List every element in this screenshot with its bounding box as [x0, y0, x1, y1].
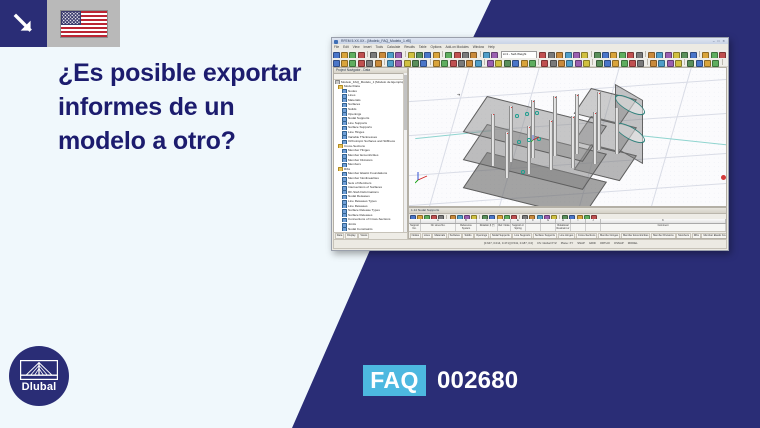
toolbar-separator	[367, 51, 368, 57]
arrow-down-right-icon	[11, 11, 36, 36]
toolbar-icon[interactable]	[575, 60, 582, 67]
blue-icon	[342, 154, 347, 158]
toolbar-separator	[592, 59, 593, 65]
table-column-header: Support No.	[409, 224, 421, 232]
table-column-header	[526, 224, 541, 232]
toolbar-icon[interactable]	[504, 60, 511, 67]
toolbar-icon[interactable]	[412, 60, 419, 67]
toolbar-icon[interactable]	[521, 60, 528, 67]
toolbar-icon[interactable]	[458, 60, 465, 67]
toolbar-icon[interactable]	[466, 60, 473, 67]
toolbar-icon[interactable]	[650, 60, 657, 67]
table-grid[interactable]: ABCDEFGHIJK Support No.On Lines No.Refer…	[409, 219, 726, 232]
toolbar-icon[interactable]	[629, 60, 636, 67]
xyz-axis-icon	[531, 134, 541, 144]
blue-icon	[342, 200, 347, 204]
table-column-letter[interactable]: H	[556, 219, 571, 223]
menu-item-window[interactable]: Window	[473, 45, 484, 49]
toolbar-icon[interactable]	[441, 60, 448, 67]
global-axis-icon	[415, 170, 429, 184]
title-line-1: ¿Es posible exportar	[58, 56, 320, 90]
table-column-letter[interactable]: A	[421, 219, 456, 223]
table-tab[interactable]: Line Hinges	[558, 233, 576, 238]
toolbar-icon[interactable]	[433, 60, 440, 67]
table-column-header: Reference System	[456, 224, 477, 232]
table-column-header	[571, 224, 586, 232]
table-column-header	[586, 224, 601, 232]
table-tab[interactable]: Member Eccentricities	[621, 233, 651, 238]
navigator-tree-item-label: Action Combinations	[348, 249, 376, 251]
menu-item-insert[interactable]: Insert	[364, 45, 372, 49]
table-column-header: Rotational Restraint or Spring [MNm/rad]	[556, 224, 571, 232]
menu-item-table[interactable]: Table	[419, 45, 427, 49]
table-column-header: Comment	[601, 224, 726, 232]
toolbar-icon[interactable]	[529, 60, 536, 67]
title-line-3: modelo a otro?	[58, 124, 320, 158]
table-column-header: Rotation β [°]	[477, 224, 498, 232]
toolbar-icon[interactable]	[658, 60, 665, 67]
toolbar-separator	[647, 59, 648, 65]
toolbar-icon[interactable]	[667, 60, 674, 67]
table-column-letter[interactable]: G	[541, 219, 556, 223]
toolbar-separator	[538, 59, 539, 65]
toolbar-icon[interactable]	[333, 60, 340, 67]
toolbar-icon[interactable]	[341, 60, 348, 67]
viewport-marker-icon	[721, 175, 726, 180]
model-viewport[interactable]: ➔	[408, 67, 727, 207]
toolbar-icon[interactable]	[387, 60, 394, 67]
toolbar-separator	[384, 59, 385, 65]
data-table-panel[interactable]: 1.14 Nodal Supports ABCDEFGHIJK Support …	[408, 207, 727, 239]
table-title: 1.14 Nodal Supports	[411, 208, 439, 212]
toolbar-icon[interactable]	[583, 60, 590, 67]
table-tab[interactable]: Line Supports	[512, 233, 532, 238]
toolbar-icon[interactable]	[712, 60, 719, 67]
table-tab[interactable]: Ribs	[692, 233, 701, 238]
table-tab[interactable]: Member Hinges	[598, 233, 620, 238]
navigator-tree-item[interactable]: Action Combinations	[334, 249, 407, 251]
blue-icon	[342, 250, 347, 251]
toolbar-icon[interactable]	[550, 60, 557, 67]
table-tab-strip[interactable]: NodesLinesMaterialsSurfacesSolidsOpening…	[409, 231, 726, 238]
table-tab[interactable]: Cross-Sections	[576, 233, 598, 238]
toolbar-separator	[699, 51, 700, 57]
project-navigator[interactable]: Project Navigator - Data Modelo_FAQ_Mode…	[333, 67, 408, 233]
blue-icon	[342, 177, 347, 181]
menu-item-calculate[interactable]: Calculate	[387, 45, 400, 49]
toolbar-icon[interactable]	[566, 60, 573, 67]
mouse-cursor-icon: ➔	[457, 92, 460, 97]
toolbar-icon[interactable]	[637, 60, 644, 67]
toolbar-icon[interactable]	[420, 60, 427, 67]
toolbar-secondary[interactable]	[332, 58, 728, 67]
status-segment[interactable]: GRID	[589, 241, 596, 245]
toolbar-icon[interactable]	[687, 60, 694, 67]
status-bar: [0.647, 0.014, 0.471] [0.541, 0.187, 0.0…	[333, 239, 727, 249]
toolbar-separator	[591, 51, 592, 57]
load-case-select-value: LC1 - Self-Weight	[503, 52, 527, 56]
toolbar-icon[interactable]	[541, 60, 548, 67]
table-column-letter[interactable]: F	[526, 219, 541, 223]
table-column-letter[interactable]: K	[601, 219, 726, 223]
table-tab[interactable]: Nodal Supports	[490, 233, 512, 238]
table-tab[interactable]: Member Elastic Foundations	[701, 233, 726, 238]
toolbar-separator	[645, 51, 646, 57]
status-segment[interactable]: Plane: XY	[561, 241, 573, 245]
toolbar-icon[interactable]	[512, 60, 519, 67]
table-column-letter[interactable]: J	[586, 219, 601, 223]
table-column-header: On Lines No.	[421, 224, 456, 232]
status-segment[interactable]: SNAP	[577, 241, 585, 245]
table-tab[interactable]: Surface Supports	[533, 233, 557, 238]
menu-item-view[interactable]: View	[353, 45, 360, 49]
faq-card: ¿Es posible exportar informes de un mode…	[0, 0, 760, 428]
status-segment[interactable]: OSNAP	[614, 241, 624, 245]
table-tab[interactable]: Nodes	[410, 233, 422, 238]
menu-item-add-on-modules[interactable]: Add-on Modules	[446, 45, 469, 49]
table-tab[interactable]: Members	[676, 233, 691, 238]
table-column-header: Support or Spring [MN/m²]	[511, 224, 526, 232]
table-column-header: Ref. Node	[498, 224, 511, 232]
dlubal-bridge-icon	[20, 360, 58, 380]
table-tab[interactable]: Member Divisions	[651, 233, 676, 238]
us-flag-icon	[60, 10, 108, 38]
toolbar-separator	[430, 59, 431, 65]
toolbar-icon[interactable]	[366, 60, 373, 67]
navigator-scrollbar[interactable]	[403, 73, 408, 232]
status-coordinates: [0.647, 0.014, 0.471] [0.541, 0.187, 0.0…	[484, 241, 533, 245]
dlubal-wordmark: Dlubal	[9, 381, 69, 393]
table-corner-cell	[409, 219, 421, 223]
table-tab[interactable]: Lines	[422, 233, 432, 238]
toolbar-separator	[484, 59, 485, 65]
table-column-letter[interactable]: I	[571, 219, 586, 223]
title-line-2: informes de un	[58, 90, 320, 124]
toolbar-separator	[442, 51, 443, 57]
toolbar-icon[interactable]	[612, 60, 619, 67]
window-controls[interactable]: – □ ✕	[713, 39, 726, 43]
app-icon	[334, 40, 338, 44]
toolbar-icon[interactable]	[349, 60, 356, 67]
toolbar-separator	[405, 51, 406, 57]
table-tab[interactable]: Openings	[474, 233, 489, 238]
status-segment[interactable]: ORTHO	[600, 241, 610, 245]
window-title: RFEM 5.XX.XX - [Modelo_FAQ_Modelo_1.rf5]	[341, 39, 411, 43]
toolbar-icon[interactable]	[358, 60, 365, 67]
table-column-header	[541, 224, 556, 232]
toolbar-icon[interactable]	[395, 60, 402, 67]
navigator-header-label: Project Navigator - Data	[336, 68, 370, 72]
dlubal-logo: Dlubal	[9, 346, 69, 406]
toolbar-icon[interactable]	[704, 60, 711, 67]
toolbar-icon[interactable]	[621, 60, 628, 67]
page-title: ¿Es posible exportar informes de un mode…	[58, 56, 320, 158]
blue-icon	[342, 223, 347, 227]
toolbar-icon[interactable]	[596, 60, 603, 67]
toolbar-icon[interactable]	[604, 60, 611, 67]
menu-item-tools[interactable]: Tools	[375, 45, 382, 49]
table-tab[interactable]: Solids	[462, 233, 473, 238]
toolbar-icon[interactable]	[495, 60, 502, 67]
menu-item-file[interactable]: File	[334, 45, 339, 49]
faq-badge: FAQ	[363, 365, 426, 396]
table-tab[interactable]: Surfaces	[448, 233, 462, 238]
toolbar-icon[interactable]	[487, 60, 494, 67]
table-column-letter[interactable]: C	[477, 219, 498, 223]
structural-model	[487, 94, 667, 194]
toolbar-separator	[722, 59, 723, 65]
toolbar-separator	[480, 51, 481, 57]
status-segment[interactable]: MODEL	[628, 241, 638, 245]
table-tab[interactable]: Materials	[432, 233, 447, 238]
menu-item-edit[interactable]: Edit	[343, 45, 349, 49]
toolbar-icon[interactable]	[404, 60, 411, 67]
menu-item-help[interactable]: Help	[488, 45, 495, 49]
language-flag-box[interactable]	[47, 0, 120, 47]
menu-item-results[interactable]: Results	[404, 45, 415, 49]
toolbar-separator	[684, 59, 685, 65]
toolbar-icon[interactable]	[450, 60, 457, 67]
toolbar-icon[interactable]	[558, 60, 565, 67]
menu-item-options[interactable]: Options	[431, 45, 442, 49]
toolbar-icon[interactable]	[375, 60, 382, 67]
toolbar-icon[interactable]	[696, 60, 703, 67]
table-column-letter[interactable]: D	[498, 219, 511, 223]
rfem-application-screenshot: RFEM 5.XX.XX - [Modelo_FAQ_Modelo_1.rf5]…	[331, 37, 729, 251]
table-column-letter[interactable]: B	[456, 219, 477, 223]
navigator-tree-body[interactable]: Modelo_FAQ_Modelo_1 [Modelo de Ejemplo]M…	[334, 80, 407, 252]
status-segment[interactable]: CS: Global XYZ	[537, 241, 557, 245]
toolbar-icon[interactable]	[475, 60, 482, 67]
faq-number: 002680	[437, 365, 518, 396]
table-column-letter[interactable]: E	[511, 219, 526, 223]
toolbar-icon[interactable]	[675, 60, 682, 67]
